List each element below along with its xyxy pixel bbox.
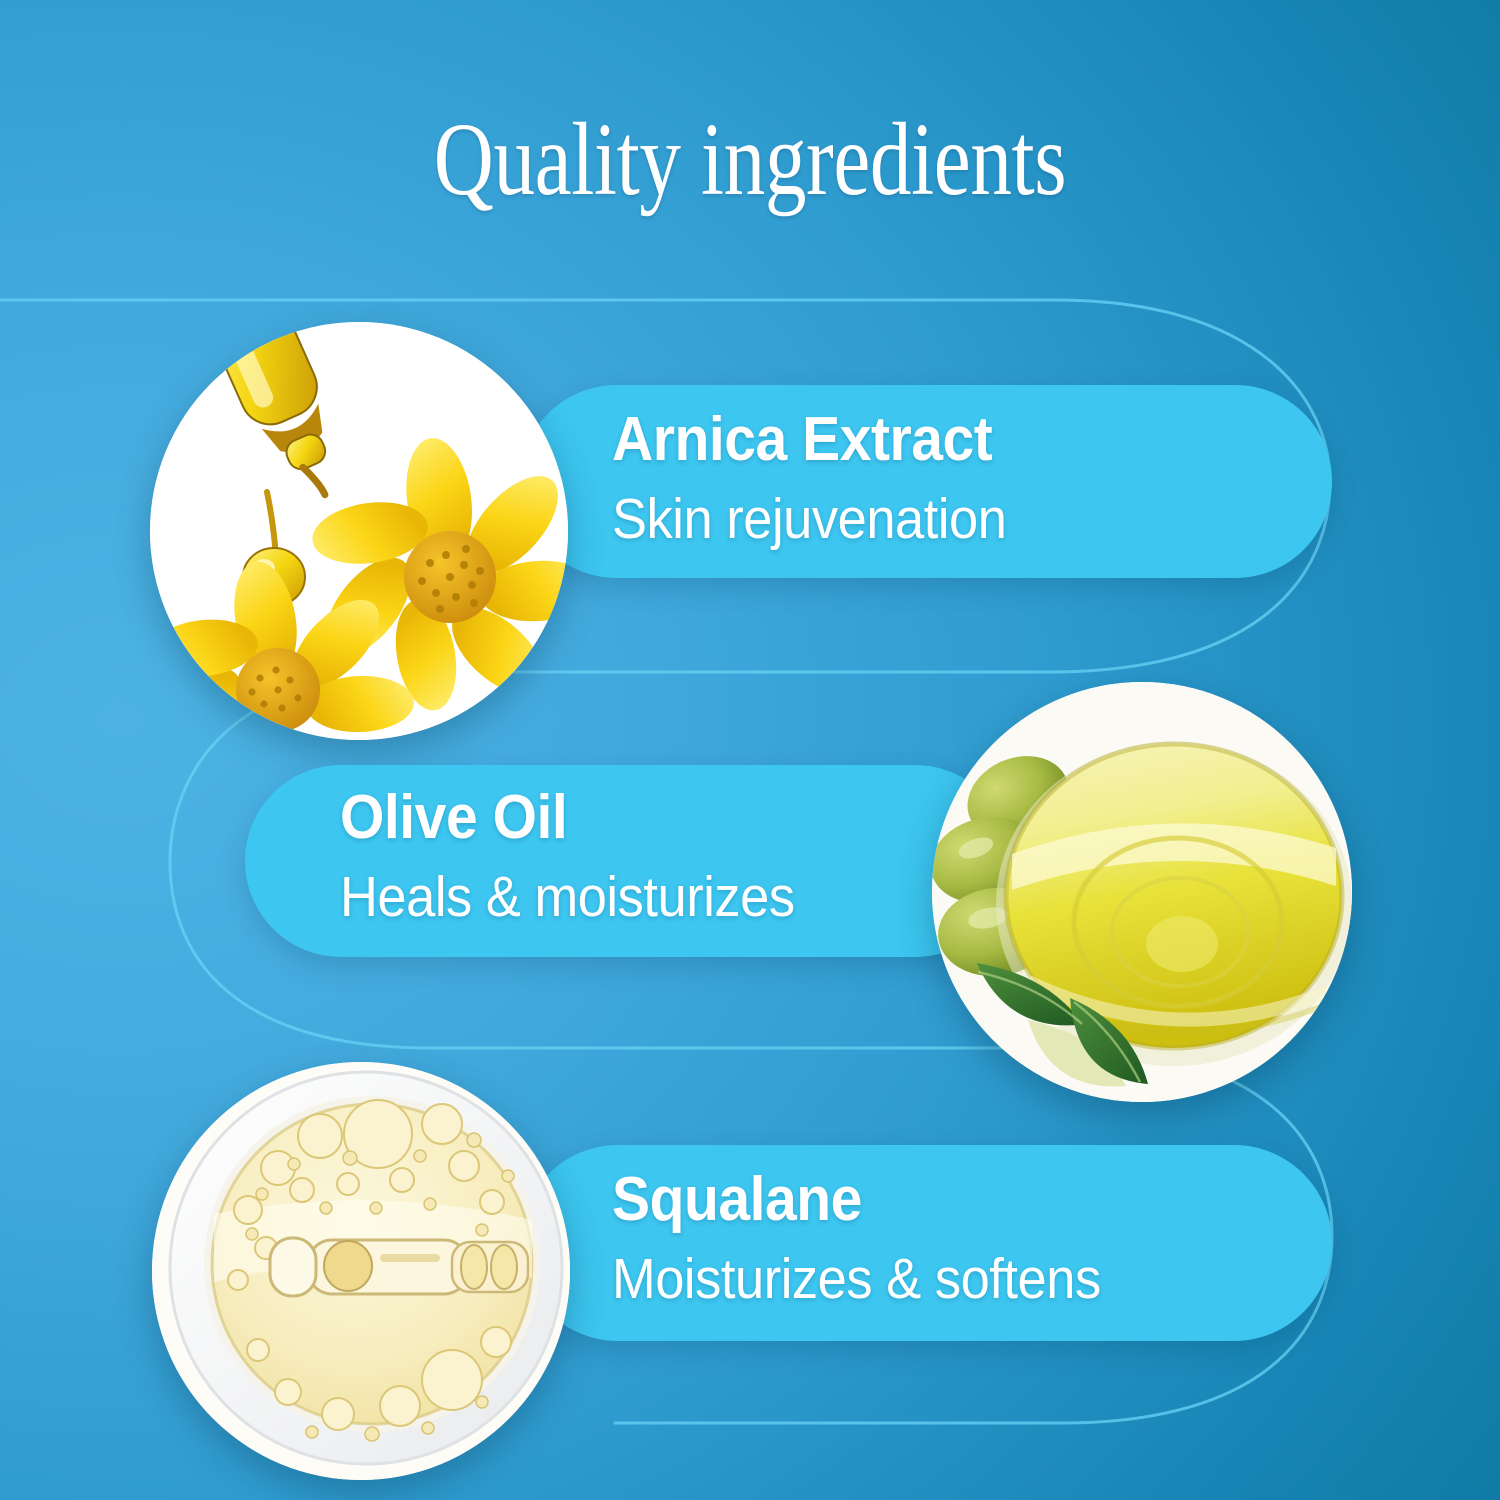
ingredient-card-olive-oil[interactable]: Olive Oil Heals & moisturizes (245, 765, 1011, 957)
ingredient-name-olive-oil: Olive Oil (340, 787, 567, 849)
quality-ingredients-infographic: Quality ingredients Arnica Extract Skin … (0, 0, 1500, 1500)
ingredient-card-squalane[interactable]: Squalane Moisturizes & softens (520, 1145, 1332, 1341)
ingredient-name-squalane: Squalane (612, 1169, 862, 1231)
olive-oil-bowl-photo (932, 682, 1352, 1102)
arnica-flower-oil-dropper-photo (150, 322, 568, 740)
ingredient-benefit-arnica: Skin rejuvenation (612, 491, 1006, 548)
ingredient-benefit-olive-oil: Heals & moisturizes (340, 869, 795, 926)
page-title: Quality ingredients (150, 108, 1350, 212)
ingredient-benefit-squalane: Moisturizes & softens (612, 1251, 1101, 1308)
ingredient-name-arnica: Arnica Extract (612, 409, 992, 471)
squalane-gel-jar-photo (152, 1062, 570, 1480)
ingredient-card-arnica[interactable]: Arnica Extract Skin rejuvenation (520, 385, 1332, 578)
